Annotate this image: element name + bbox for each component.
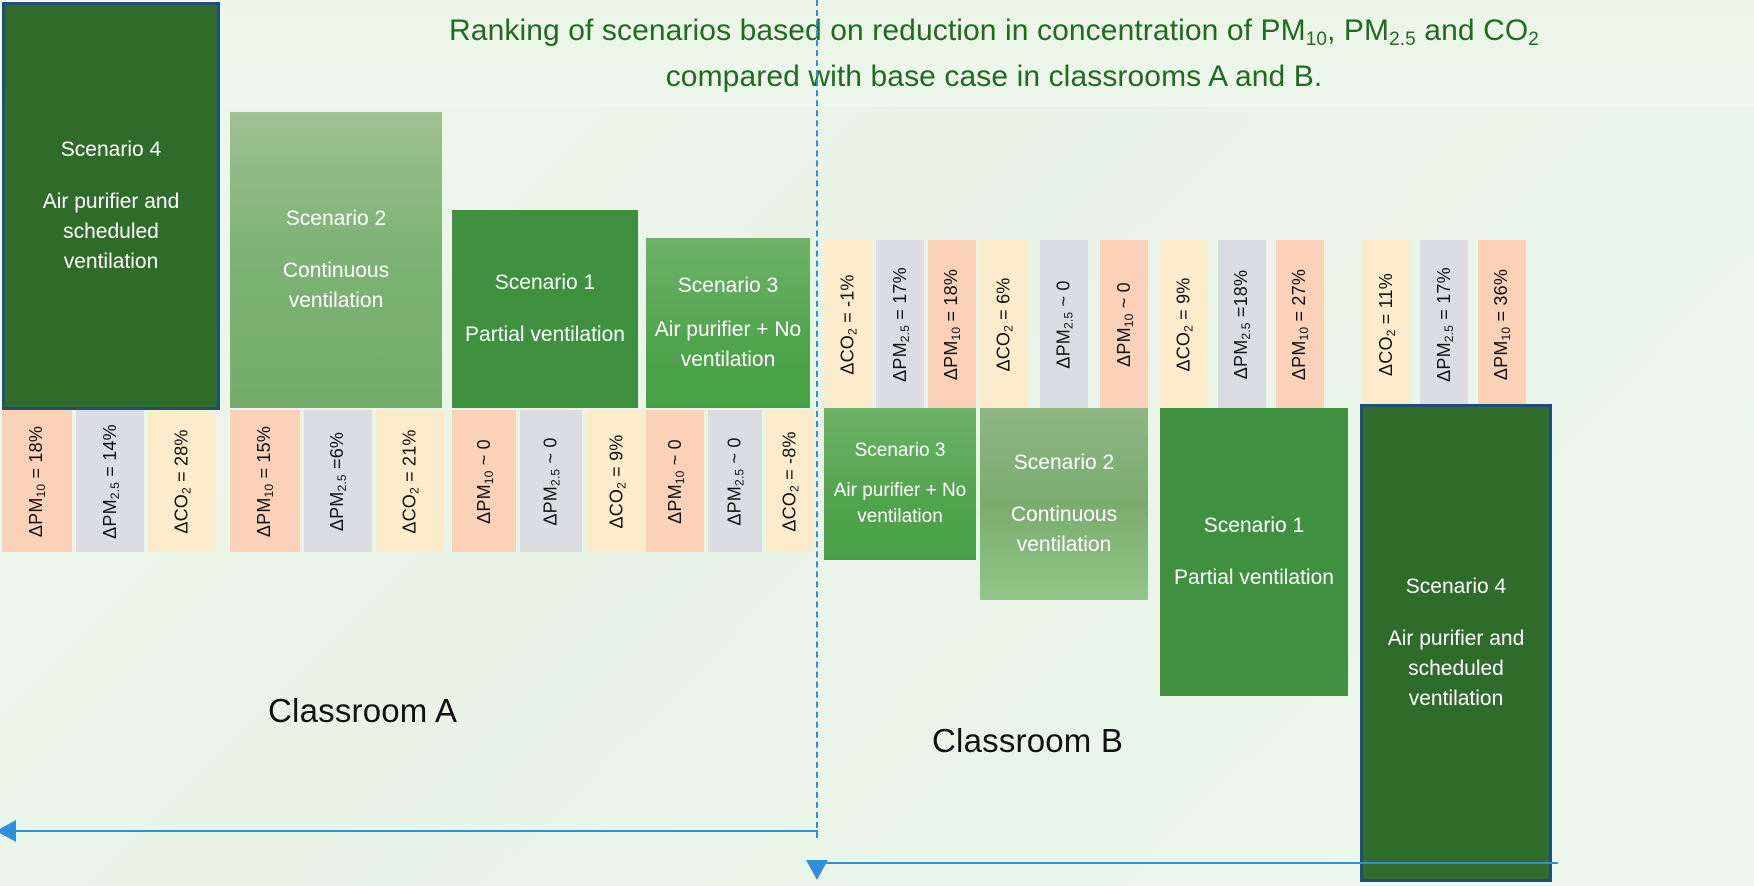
chip-a-s1-co2[interactable]: ΔCO2 = 9%: [586, 410, 648, 552]
bar-a-scenario-2-desc: Continuous ventilation: [238, 256, 434, 316]
bar-a-scenario-3-name: Scenario 3: [678, 271, 778, 301]
chip-a-s2-pm10-label: ΔPM10 = 15%: [255, 425, 276, 536]
bar-a-scenario-1[interactable]: Scenario 1 Partial ventilation: [452, 210, 638, 408]
chip-b-s1-pm10[interactable]: ΔPM10 = 27%: [1276, 240, 1324, 408]
title-line-1: Ranking of scenarios based on reduction …: [449, 14, 1539, 47]
chip-b-s2-pm25-label: ΔPM2.5 ~ 0: [1054, 280, 1075, 368]
chip-b-s1-co2[interactable]: ΔCO2 = 9%: [1160, 240, 1208, 408]
classroom-b-arrow-icon: [806, 860, 828, 880]
bar-b-scenario-3[interactable]: Scenario 3 Air purifier + No ventilation: [824, 408, 976, 560]
chip-b-s3-pm25-label: ΔPM2.5 = 17%: [890, 267, 911, 382]
chip-b-s2-pm10[interactable]: ΔPM10 ~ 0: [1100, 240, 1148, 408]
chip-a-s3-pm25[interactable]: ΔPM2.5 ~ 0: [708, 410, 762, 552]
chip-b-s4-pm10[interactable]: ΔPM10 = 36%: [1478, 240, 1526, 408]
bar-a-scenario-4-desc: Air purifier and scheduled ventilation: [13, 187, 209, 277]
chip-a-s3-pm25-label: ΔPM2.5 ~ 0: [725, 437, 746, 525]
chip-a-s3-co2[interactable]: ΔCO2 = -8%: [766, 410, 814, 552]
chip-b-s1-co2-label: ΔCO2 = 9%: [1174, 277, 1195, 371]
bar-a-scenario-4-name: Scenario 4: [61, 135, 161, 165]
bar-b-scenario-2-desc: Continuous ventilation: [988, 500, 1140, 560]
page-title: Ranking of scenarios based on reduction …: [244, 10, 1744, 102]
chip-b-s1-pm10-label: ΔPM10 = 27%: [1290, 268, 1311, 379]
chip-a-s1-pm25[interactable]: ΔPM2.5 ~ 0: [520, 410, 582, 552]
chip-b-s2-co2[interactable]: ΔCO2 = 6%: [980, 240, 1028, 408]
bar-b-scenario-2-name: Scenario 2: [1014, 448, 1114, 478]
chip-a-s2-pm10[interactable]: ΔPM10 = 15%: [230, 410, 300, 552]
chip-a-s4-pm10[interactable]: ΔPM10 = 18%: [2, 410, 72, 552]
classroom-a-label: Classroom A: [268, 692, 457, 730]
bar-b-scenario-4[interactable]: Scenario 4 Air purifier and scheduled ve…: [1360, 404, 1552, 882]
chip-a-s3-co2-label: ΔCO2 = -8%: [780, 431, 801, 531]
chip-b-s2-co2-label: ΔCO2 = 6%: [994, 277, 1015, 371]
chip-b-s3-pm10-label: ΔPM10 = 18%: [942, 268, 963, 379]
chip-a-s1-pm25-label: ΔPM2.5 ~ 0: [541, 437, 562, 525]
chip-a-s4-co2-label: ΔCO2 = 28%: [172, 429, 193, 533]
classroom-a-arrow-icon: [0, 820, 16, 842]
bar-b-scenario-3-desc: Air purifier + No ventilation: [832, 478, 968, 530]
bar-a-scenario-1-desc: Partial ventilation: [465, 320, 625, 350]
bar-b-scenario-4-name: Scenario 4: [1406, 572, 1506, 602]
bar-b-scenario-2[interactable]: Scenario 2 Continuous ventilation: [980, 408, 1148, 600]
chip-b-s4-co2-label: ΔCO2 = 11%: [1376, 273, 1397, 376]
classroom-b-axis: [818, 862, 1558, 864]
chip-b-s1-pm25-label: ΔPM2.5 =18%: [1232, 269, 1253, 378]
classroom-b-label: Classroom B: [932, 722, 1123, 760]
chip-a-s4-co2[interactable]: ΔCO2 = 28%: [148, 410, 216, 552]
chip-b-s3-pm25[interactable]: ΔPM2.5 = 17%: [876, 240, 924, 408]
bar-a-scenario-1-name: Scenario 1: [495, 268, 595, 298]
infographic-canvas: Ranking of scenarios based on reduction …: [0, 0, 1754, 886]
chip-a-s2-pm25[interactable]: ΔPM2.5 =6%: [304, 410, 372, 552]
chip-b-s4-co2[interactable]: ΔCO2 = 11%: [1362, 240, 1410, 408]
chip-a-s4-pm25-label: ΔPM2.5 = 14%: [100, 424, 121, 539]
chip-b-s2-pm10-label: ΔPM10 ~ 0: [1114, 282, 1135, 367]
chip-a-s3-pm10[interactable]: ΔPM10 ~ 0: [646, 410, 704, 552]
title-line-2: compared with base case in classrooms A …: [666, 60, 1323, 93]
chip-a-s1-pm10[interactable]: ΔPM10 ~ 0: [452, 410, 516, 552]
bar-b-scenario-1[interactable]: Scenario 1 Partial ventilation: [1160, 408, 1348, 696]
bar-a-scenario-4[interactable]: Scenario 4 Air purifier and scheduled ve…: [2, 2, 220, 410]
bar-a-scenario-3-desc: Air purifier + No ventilation: [654, 315, 802, 375]
chip-a-s4-pm10-label: ΔPM10 = 18%: [27, 425, 48, 536]
bar-b-scenario-1-desc: Partial ventilation: [1174, 563, 1334, 593]
chip-b-s3-pm10[interactable]: ΔPM10 = 18%: [928, 240, 976, 408]
chip-b-s4-pm10-label: ΔPM10 = 36%: [1492, 268, 1513, 379]
chip-b-s4-pm25-label: ΔPM2.5 = 17%: [1434, 267, 1455, 382]
bar-b-scenario-3-name: Scenario 3: [855, 438, 946, 464]
chip-b-s3-co2-label: ΔCO2 = -1%: [838, 274, 859, 374]
chip-a-s1-pm10-label: ΔPM10 ~ 0: [474, 439, 495, 524]
bar-b-scenario-1-name: Scenario 1: [1204, 511, 1304, 541]
bar-a-scenario-2-name: Scenario 2: [286, 204, 386, 234]
bar-a-scenario-3[interactable]: Scenario 3 Air purifier + No ventilation: [646, 238, 810, 408]
chip-a-s2-co2-label: ΔCO2 = 21%: [400, 429, 421, 533]
classroom-divider: [816, 0, 818, 838]
classroom-a-axis: [14, 830, 818, 832]
chip-a-s2-co2[interactable]: ΔCO2 = 21%: [376, 410, 444, 552]
chip-a-s2-pm25-label: ΔPM2.5 =6%: [328, 431, 349, 530]
bar-a-scenario-2[interactable]: Scenario 2 Continuous ventilation: [230, 112, 442, 408]
chip-a-s4-pm25[interactable]: ΔPM2.5 = 14%: [76, 410, 144, 552]
chip-a-s3-pm10-label: ΔPM10 ~ 0: [665, 439, 686, 524]
chip-b-s2-pm25[interactable]: ΔPM2.5 ~ 0: [1040, 240, 1088, 408]
chip-b-s1-pm25[interactable]: ΔPM2.5 =18%: [1218, 240, 1266, 408]
chip-a-s1-co2-label: ΔCO2 = 9%: [607, 434, 628, 528]
bar-b-scenario-4-desc: Air purifier and scheduled ventilation: [1371, 624, 1541, 714]
chip-b-s3-co2[interactable]: ΔCO2 = -1%: [824, 240, 872, 408]
chip-b-s4-pm25[interactable]: ΔPM2.5 = 17%: [1420, 240, 1468, 408]
